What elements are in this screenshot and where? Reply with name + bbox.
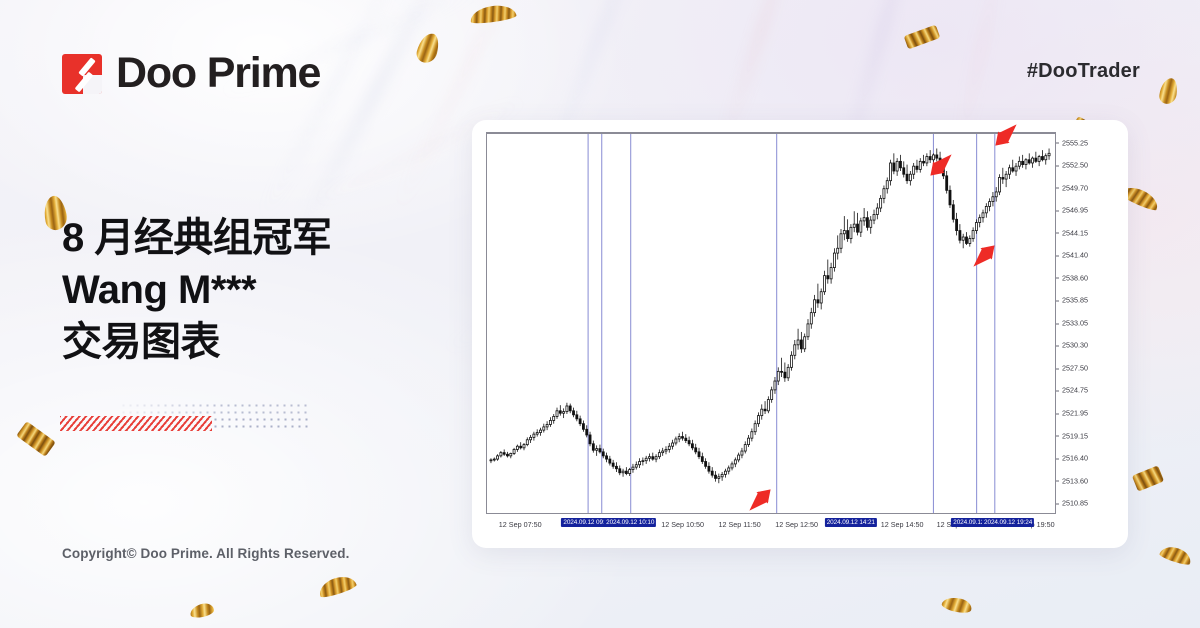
price-tick-label: 2516.40: [1062, 454, 1088, 463]
price-axis: 2555.252552.502549.702546.952544.152541.…: [1056, 132, 1114, 514]
price-tick-label: 2513.60: [1062, 476, 1088, 485]
hatched-bar: [60, 416, 212, 431]
confetti-ribbon: [189, 602, 215, 619]
backdrop-streak: [260, 0, 403, 223]
time-tick-label: 12 Sep 07:50: [499, 520, 542, 529]
price-tick-label: 2519.15: [1062, 431, 1088, 440]
headline-line-3: 交易图表: [62, 316, 331, 368]
confetti-ribbon: [16, 421, 56, 457]
confetti-ribbon: [904, 25, 941, 50]
brand-logo: Doo Prime: [62, 52, 320, 95]
trade-time-marker: 2024.09.12 19:24: [982, 518, 1034, 527]
price-tick-label: 2535.85: [1062, 296, 1088, 305]
trading-chart-card: 2555.252552.502549.702546.952544.152541.…: [472, 120, 1128, 548]
trade-time-marker: 2024.09.12 14:21: [825, 518, 877, 527]
time-tick-label: 12 Sep 12:50: [775, 520, 818, 529]
price-tick-label: 2527.50: [1062, 364, 1088, 373]
brand-name: Doo Prime: [116, 52, 320, 95]
price-tick-label: 2552.50: [1062, 161, 1088, 170]
promo-banner: Doo Prime #DooTrader 8 月经典组冠军 Wang M*** …: [0, 0, 1200, 628]
time-axis: 12 Sep 07:5012 Sep 10:5012 Sep 11:5012 S…: [486, 516, 1056, 536]
time-tick-label: 12 Sep 10:50: [661, 520, 704, 529]
time-tick-label: 12 Sep 14:50: [881, 520, 924, 529]
confetti-ribbon: [941, 595, 973, 616]
trade-time-marker: 2024.09.12 10:10: [604, 518, 656, 527]
price-tick-label: 2521.95: [1062, 409, 1088, 418]
headline-line-2: Wang M***: [62, 264, 331, 316]
copyright-text: Copyright© Doo Prime. All Rights Reserve…: [62, 546, 349, 561]
price-tick-label: 2533.05: [1062, 319, 1088, 328]
confetti-ribbon: [1158, 77, 1178, 105]
price-tick-label: 2530.30: [1062, 341, 1088, 350]
price-tick-label: 2538.60: [1062, 273, 1088, 282]
confetti-ribbon: [1159, 543, 1194, 566]
headline-line-1: 8 月经典组冠军: [62, 212, 331, 264]
price-tick-label: 2510.85: [1062, 499, 1088, 508]
price-tick-label: 2541.40: [1062, 251, 1088, 260]
confetti-ribbon: [316, 573, 357, 600]
headline: 8 月经典组冠军 Wang M*** 交易图表: [62, 212, 331, 368]
price-tick-label: 2546.95: [1062, 206, 1088, 215]
price-tick-label: 2549.70: [1062, 183, 1088, 192]
doo-prime-mark-icon: [62, 54, 102, 94]
confetti-ribbon: [469, 3, 517, 25]
price-tick-label: 2524.75: [1062, 386, 1088, 395]
candlestick-svg: [487, 134, 1055, 513]
confetti-ribbon: [415, 31, 442, 65]
confetti-ribbon: [1132, 465, 1164, 491]
dotted-pattern: [212, 416, 310, 431]
campaign-hashtag: #DooTrader: [1027, 60, 1140, 83]
time-tick-label: 12 Sep 11:50: [719, 520, 761, 529]
price-tick-label: 2544.15: [1062, 228, 1088, 237]
decorative-accent: [60, 398, 320, 440]
candlestick-plot: [486, 132, 1056, 514]
price-tick-label: 2555.25: [1062, 138, 1088, 147]
